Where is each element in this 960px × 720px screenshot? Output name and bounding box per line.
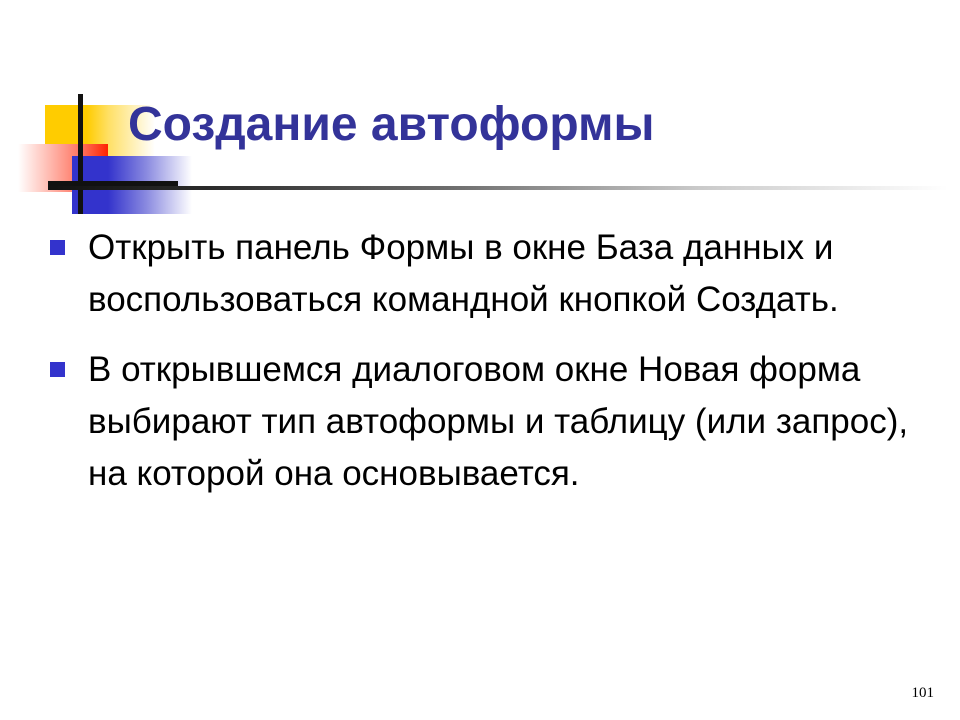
list-item-text: В открывшемся диалоговом окне Новая форм… bbox=[88, 344, 924, 500]
slide-canvas: Создание автоформы Открыть панель Формы … bbox=[0, 0, 960, 720]
page-number: 101 bbox=[912, 685, 935, 702]
slide-title: Создание автоформы bbox=[128, 98, 928, 152]
square-bullet-icon bbox=[50, 362, 65, 377]
slide-body: Открыть панель Формы в окне База данных … bbox=[44, 222, 924, 518]
vertical-line-icon bbox=[78, 94, 83, 214]
list-item-text: Открыть панель Формы в окне База данных … bbox=[88, 222, 924, 326]
list-item: Открыть панель Формы в окне База данных … bbox=[44, 222, 924, 326]
square-bullet-icon bbox=[50, 240, 65, 255]
list-item: В открывшемся диалоговом окне Новая форм… bbox=[44, 344, 924, 500]
title-divider bbox=[48, 186, 948, 190]
